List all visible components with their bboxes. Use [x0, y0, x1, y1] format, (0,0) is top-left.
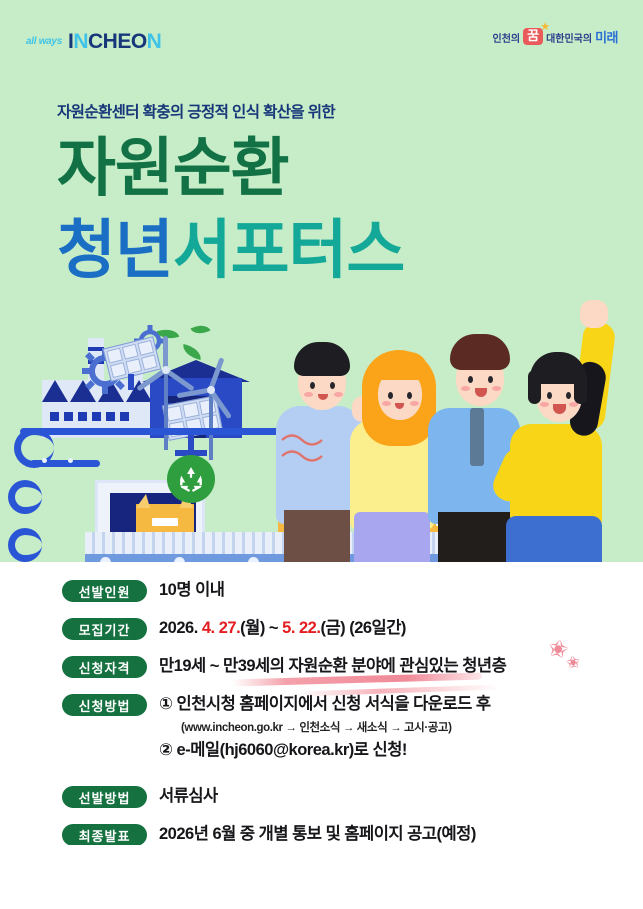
- title-line-2: 청년서포터스: [57, 218, 404, 282]
- incheon-brand-logo: all ways INCHEON: [26, 31, 161, 52]
- factory-vent: [78, 412, 87, 421]
- period-end-date: 5. 22.: [282, 619, 320, 637]
- incheon-slogan-logo: 인천의 꿈 ★ 대한민국의 미래: [493, 28, 619, 45]
- badge-headcount: 선발인원: [62, 580, 147, 602]
- detail-row-howtoapply: 신청방법 ① 인천시청 홈페이지에서 신청 서식을 다운로드 후 (www.in…: [62, 694, 491, 760]
- factory-vent: [92, 412, 101, 421]
- poster-root: all ways INCHEON 인천의 꿈 ★ 대한민국의 미래 자원순환센터…: [0, 0, 643, 909]
- eco-illustration: [0, 300, 643, 562]
- apply-step-2: ② e-메일(hj6060@korea.kr)로 신청!: [159, 740, 491, 761]
- solar-panel-pole: [128, 374, 134, 390]
- star-icon: ★: [540, 21, 550, 33]
- pipe-dot: [42, 458, 47, 463]
- raised-fist: [580, 300, 608, 328]
- factory-vent: [120, 412, 129, 421]
- detail-row-announcement: 최종발표 2026년 6월 중 개별 통보 및 홈페이지 공고(예정): [62, 824, 476, 846]
- period-pre: 2026.: [159, 619, 202, 637]
- hair-side: [528, 370, 541, 404]
- title-line-1: 자원순환: [57, 136, 289, 200]
- incheon-logo-wordmark: INCHEON: [68, 31, 161, 52]
- value-period: 2026. 4. 27.(월) ~ 5. 22.(금) (26일간): [159, 618, 406, 639]
- factory-vent: [106, 412, 115, 421]
- pipe-dot: [68, 458, 73, 463]
- pipe-horizontal: [30, 460, 100, 467]
- detail-row-headcount: 선발인원 10명 이내: [62, 580, 224, 602]
- slogan-part2: 대한민국의: [546, 34, 592, 45]
- badge-howtoapply: 신청방법: [62, 694, 147, 716]
- hair: [450, 334, 510, 370]
- star-doodle-icon: ✬: [565, 653, 581, 672]
- period-post: (금) (26일간): [320, 619, 405, 637]
- details-section: 선발인원 10명 이내 모집기간 2026. 4. 27.(월) ~ 5. 22…: [0, 562, 643, 845]
- necktie: [470, 408, 484, 466]
- pipe-loop: [8, 528, 42, 562]
- hero-section: all ways INCHEON 인천의 꿈 ★ 대한민국의 미래 자원순환센터…: [0, 0, 643, 562]
- incheon-logo-tagline: all ways: [26, 36, 62, 47]
- title-line-2-youth: 청년: [57, 214, 173, 286]
- pipe-loop: [8, 480, 42, 514]
- slogan-future: 미래: [595, 31, 618, 45]
- badge-period: 모집기간: [62, 618, 147, 640]
- howtoapply-lines: ① 인천시청 홈페이지에서 신청 서식을 다운로드 후 (www.incheon…: [159, 694, 491, 760]
- apply-step-1: ① 인천시청 홈페이지에서 신청 서식을 다운로드 후: [159, 694, 491, 715]
- value-selection-method: 서류심사: [159, 786, 218, 807]
- hair: [294, 342, 350, 376]
- badge-eligibility: 신청자격: [62, 656, 147, 678]
- leaf-icon: [181, 344, 203, 360]
- slogan-part1: 인천의: [493, 34, 521, 45]
- badge-announcement: 최종발표: [62, 824, 147, 846]
- detail-row-period: 모집기간 2026. 4. 27.(월) ~ 5. 22.(금) (26일간): [62, 618, 406, 640]
- motion-lines-icon: [280, 430, 350, 476]
- hair-side: [574, 370, 587, 404]
- factory-vent: [64, 412, 73, 421]
- hair-fringe: [372, 352, 428, 380]
- value-announcement: 2026년 6월 중 개별 통보 및 홈페이지 공고(예정): [159, 824, 476, 845]
- recycle-icon: [167, 455, 215, 503]
- detail-row-selection-method: 선발방법 서류심사: [62, 786, 218, 808]
- apply-site-path: (www.incheon.go.kr → 인천소식 → 새소식 → 고시·공고): [181, 719, 491, 735]
- title-line-2-supporters: 서포터스: [173, 214, 405, 286]
- slogan-dream: 꿈 ★: [523, 28, 543, 45]
- leaf-icon: [190, 321, 210, 339]
- period-mid: (월) ~: [240, 619, 282, 637]
- footer-section: 인천광역시 MN 매일뉴스 매일뉴스: [0, 845, 643, 909]
- sub-headline: 자원순환센터 확충의 긍정적 인식 확산을 위한: [57, 100, 335, 122]
- badge-selection-method: 선발방법: [62, 786, 147, 808]
- value-headcount: 10명 이내: [159, 580, 224, 601]
- period-start-date: 4. 27.: [202, 619, 240, 637]
- factory-vent: [50, 412, 59, 421]
